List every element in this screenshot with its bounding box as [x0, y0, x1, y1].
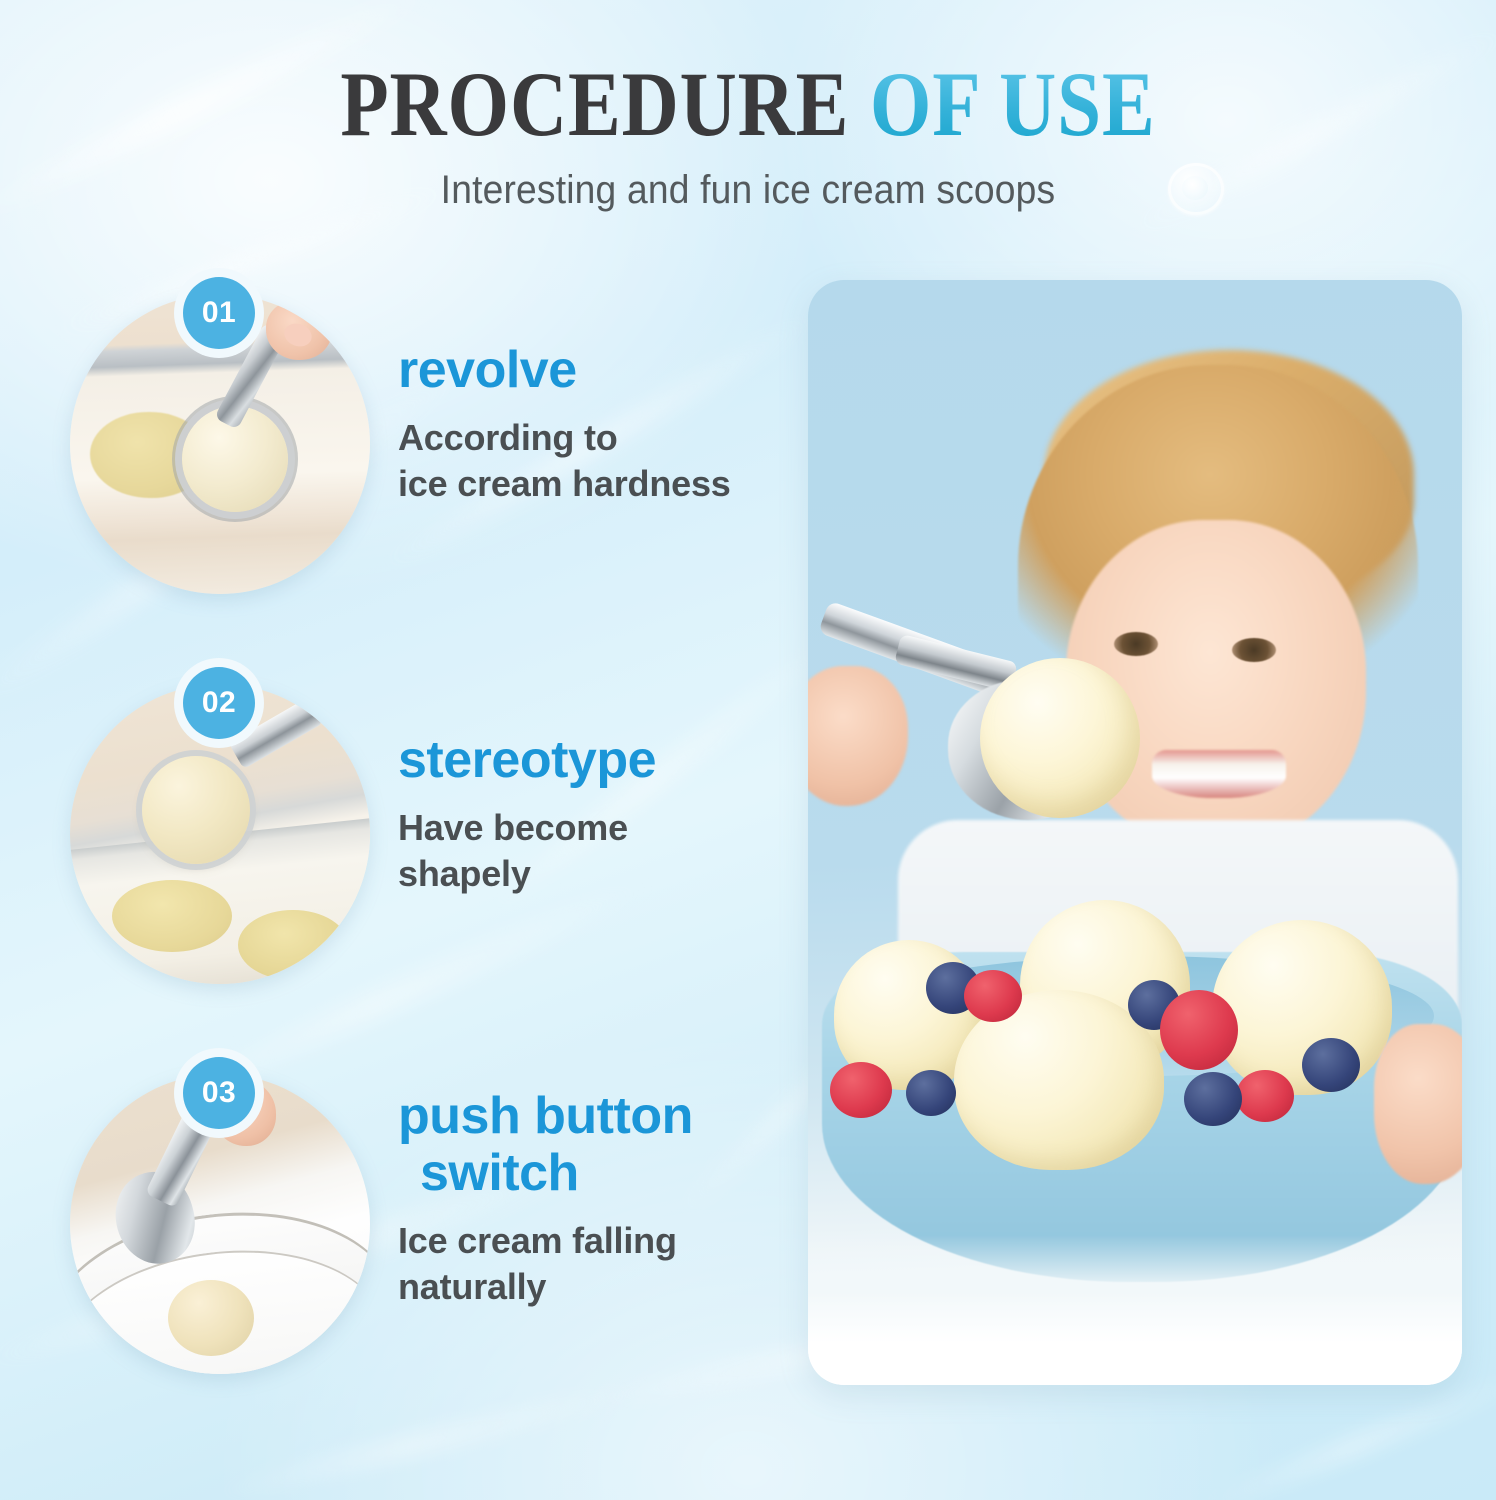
step-number-badge: 02 — [174, 658, 264, 748]
step-thumbnail-wrapper: 02 — [70, 684, 370, 984]
step-description-line-1: Ice cream falling — [398, 1220, 677, 1261]
step-text-block: revolve According to ice cream hardness — [398, 342, 798, 507]
step-item: 01 revolve According to ice cream hardne… — [0, 272, 800, 662]
step-heading-line-2: switch — [398, 1145, 798, 1202]
product-infographic-poster: PROCEDURE OF USE Interesting and fun ice… — [0, 0, 1496, 1500]
page-title: PROCEDURE OF USE — [105, 58, 1392, 152]
steps-list: 01 revolve According to ice cream hardne… — [0, 272, 800, 1442]
step-text-block: push button switch Ice cream falling nat… — [398, 1088, 798, 1311]
step-description-line-2: shapely — [398, 851, 798, 897]
step-number-badge: 03 — [174, 1048, 264, 1138]
step-description: Have become shapely — [398, 805, 798, 897]
step-description: Ice cream falling naturally — [398, 1218, 798, 1310]
step-text-block: stereotype Have become shapely — [398, 732, 798, 897]
step-heading-line-1: push button — [398, 1087, 693, 1145]
step-heading: stereotype — [398, 732, 798, 789]
step-item: 03 push button switch Ice cream falling … — [0, 1052, 800, 1442]
step-description-line-2: ice cream hardness — [398, 461, 798, 507]
step-thumbnail-wrapper: 01 — [70, 294, 370, 594]
hero-photo — [808, 280, 1462, 1385]
step-item: 02 stereotype Have become shapely — [0, 662, 800, 1052]
step-description-line-1: Have become — [398, 807, 628, 848]
step-description-line-1: According to — [398, 417, 618, 458]
step-thumbnail-wrapper: 03 — [70, 1074, 370, 1374]
step-heading: push button switch — [398, 1088, 798, 1202]
step-heading: revolve — [398, 342, 798, 399]
title-dark-part: PROCEDURE — [340, 53, 849, 155]
step-description: According to ice cream hardness — [398, 415, 798, 507]
step-description-line-2: naturally — [398, 1264, 798, 1310]
step-number-badge: 01 — [174, 268, 264, 358]
page-subtitle: Interesting and fun ice cream scoops — [52, 168, 1443, 213]
title-blue-part: OF USE — [870, 53, 1156, 155]
water-droplet-icon — [1168, 163, 1224, 215]
poster-header: PROCEDURE OF USE Interesting and fun ice… — [0, 58, 1496, 213]
